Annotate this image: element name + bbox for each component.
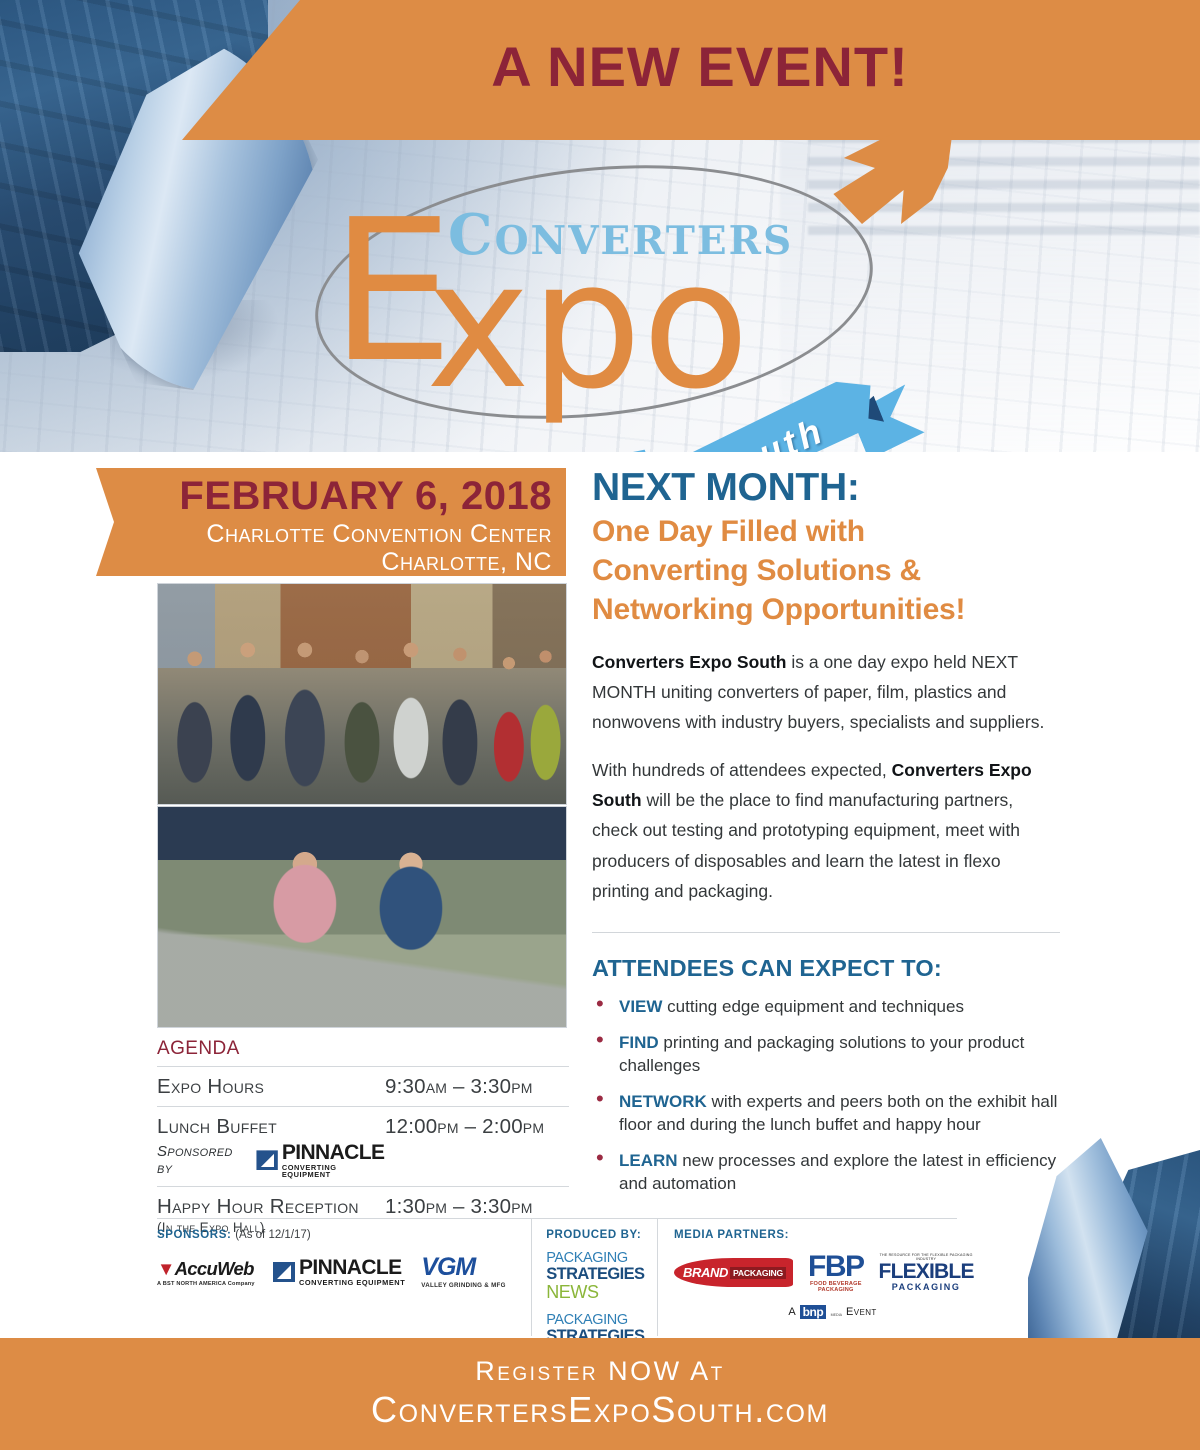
event-city: Charlotte, NC xyxy=(381,548,552,577)
list-item: NETWORK with experts and peers both on t… xyxy=(592,1090,1060,1136)
media-partners-label: MEDIA PARTNERS: xyxy=(674,1229,957,1241)
agenda-time: 12:00pm – 2:00pm xyxy=(385,1115,544,1139)
sponsored-by-label: Sponsored by xyxy=(157,1143,248,1177)
flexible-packaging-logo: THE RESOURCE FOR THE FLEXIBLE PACKAGING … xyxy=(879,1253,974,1292)
detail-paragraph-text: will be the place to find manufacturing … xyxy=(592,790,1020,900)
agenda-row: Lunch Buffet Sponsored by PINNACLE CONVE… xyxy=(157,1106,569,1186)
vgm-logo-tagline: VALLEY GRINDING & MFG xyxy=(421,1282,515,1289)
accuweb-logo-name: AccuWeb xyxy=(175,1258,254,1279)
sub-heading-line-2: Converting Solutions & xyxy=(592,551,1060,590)
intro-paragraph: Converters Expo South is a one day expo … xyxy=(592,647,1060,737)
logo-word-xpo: xpo xyxy=(426,238,750,414)
agenda-label: Expo Hours xyxy=(157,1075,385,1099)
agenda-title: AGENDA xyxy=(157,1038,569,1066)
detail-paragraph: With hundreds of attendees expected, Con… xyxy=(592,755,1060,905)
produced-by-label: PRODUCED BY: xyxy=(546,1229,657,1241)
sub-heading-line-1: One Day Filled with xyxy=(592,512,1060,551)
list-item-text: printing and packaging solutions to your… xyxy=(619,1033,1024,1075)
agenda-label: Lunch Buffet xyxy=(157,1115,385,1139)
footer-website-link[interactable]: ConvertersExpoSouth.com xyxy=(0,1389,1200,1431)
event-venue: Charlotte Convention Center xyxy=(206,520,552,549)
event-date: FEBRUARY 6, 2018 xyxy=(179,474,552,519)
footer-cta: Register NOW At ConvertersExpoSouth.com xyxy=(0,1338,1200,1450)
expectations-heading: ATTENDEES CAN EXPECT TO: xyxy=(592,955,1060,982)
list-item: FIND printing and packaging solutions to… xyxy=(592,1031,1060,1077)
pinnacle-logo-tagline: CONVERTING EQUIPMENT xyxy=(282,1164,385,1179)
list-item-lead: LEARN xyxy=(619,1151,678,1170)
media-partners-column: MEDIA PARTNERS: BRAND PACKAGING FBP FOOD… xyxy=(657,1219,957,1336)
sponsors-column: SPONSORS: (As of 12/1/17) ▼AccuWeb A BST… xyxy=(157,1219,523,1336)
kicker-heading: NEXT MONTH: xyxy=(592,466,1060,510)
brandpackaging-logo: BRAND PACKAGING xyxy=(674,1258,793,1287)
vgm-logo-name: VGM xyxy=(421,1255,515,1280)
agenda-section: AGENDA Expo Hours 9:30am – 3:30pm Lunch … xyxy=(157,1038,569,1242)
intro-paragraph-bold: Converters Expo South xyxy=(592,652,786,672)
pinnacle-logo: PINNACLE CONVERTING EQUIPMENT xyxy=(273,1257,405,1286)
list-item-lead: VIEW xyxy=(619,997,662,1016)
agenda-time: 9:30am – 3:30pm xyxy=(385,1075,533,1099)
page-curl-bottom-right xyxy=(1050,1120,1200,1350)
sub-heading-line-3: Networking Opportunities! xyxy=(592,590,1060,629)
list-item: VIEW cutting edge equipment and techniqu… xyxy=(592,995,1060,1018)
produced-by-column: PRODUCED BY: PACKAGING STRATEGIES NEWS P… xyxy=(531,1219,657,1336)
agenda-time: 1:30pm – 3:30pm xyxy=(385,1195,533,1219)
pinnacle-logo: PINNACLE CONVERTING EQUIPMENT xyxy=(256,1142,385,1179)
pinnacle-mark-icon xyxy=(273,1262,295,1282)
hero-section: A NEW EVENT! E Converters xpo South xyxy=(0,0,1200,452)
accuweb-logo-tagline: A BST NORTH AMERICA Company xyxy=(157,1281,257,1287)
attendees-networking-photo xyxy=(157,583,567,805)
list-item-lead: FIND xyxy=(619,1033,659,1052)
agenda-sponsor: Sponsored by PINNACLE CONVERTING EQUIPME… xyxy=(157,1142,385,1179)
vgm-logo: VGM VALLEY GRINDING & MFG xyxy=(421,1255,515,1289)
bnp-event-logo: A bnp MEDIA Event xyxy=(708,1303,957,1321)
sponsor-strip: SPONSORS: (As of 12/1/17) ▼AccuWeb A BST… xyxy=(157,1218,957,1336)
sponsors-label: SPONSORS: (As of 12/1/17) xyxy=(157,1229,523,1241)
expectations-list: VIEW cutting edge equipment and techniqu… xyxy=(592,995,1060,1196)
list-item-lead: NETWORK xyxy=(619,1092,707,1111)
pinnacle-logo-tagline: CONVERTING EQUIPMENT xyxy=(299,1279,405,1286)
main-content: NEXT MONTH: One Day Filled with Converti… xyxy=(592,466,1060,1196)
sponsors-asof: (As of 12/1/17) xyxy=(235,1229,310,1241)
date-ribbon: FEBRUARY 6, 2018 Charlotte Convention Ce… xyxy=(96,468,566,576)
list-item: LEARN new processes and explore the late… xyxy=(592,1149,1060,1195)
sub-heading: One Day Filled with Converting Solutions… xyxy=(592,512,1060,629)
detail-paragraph-pre: With hundreds of attendees expected, xyxy=(592,760,892,780)
fbp-logo: FBP FOOD BEVERAGE PACKAGING xyxy=(808,1253,864,1293)
accuweb-logo: ▼AccuWeb A BST NORTH AMERICA Company xyxy=(157,1258,257,1287)
pinnacle-mark-icon xyxy=(256,1150,277,1170)
agenda-label: Happy Hour Reception xyxy=(157,1195,385,1219)
event-logo: E Converters xpo South xyxy=(300,150,900,450)
list-item-text: cutting edge equipment and techniques xyxy=(662,997,964,1016)
footer-line-1: Register NOW At xyxy=(0,1338,1200,1387)
page-title: A NEW EVENT! xyxy=(260,34,1140,99)
pinnacle-logo-name: PINNACLE xyxy=(282,1142,385,1163)
section-divider xyxy=(592,932,1060,933)
packaging-strategies-news-logo: PACKAGING STRATEGIES NEWS xyxy=(546,1251,657,1301)
agenda-row: Expo Hours 9:30am – 3:30pm xyxy=(157,1066,569,1106)
equipment-demo-photo xyxy=(157,806,567,1028)
list-item-text: new processes and explore the latest in … xyxy=(619,1151,1056,1193)
pinnacle-logo-name: PINNACLE xyxy=(299,1257,405,1278)
